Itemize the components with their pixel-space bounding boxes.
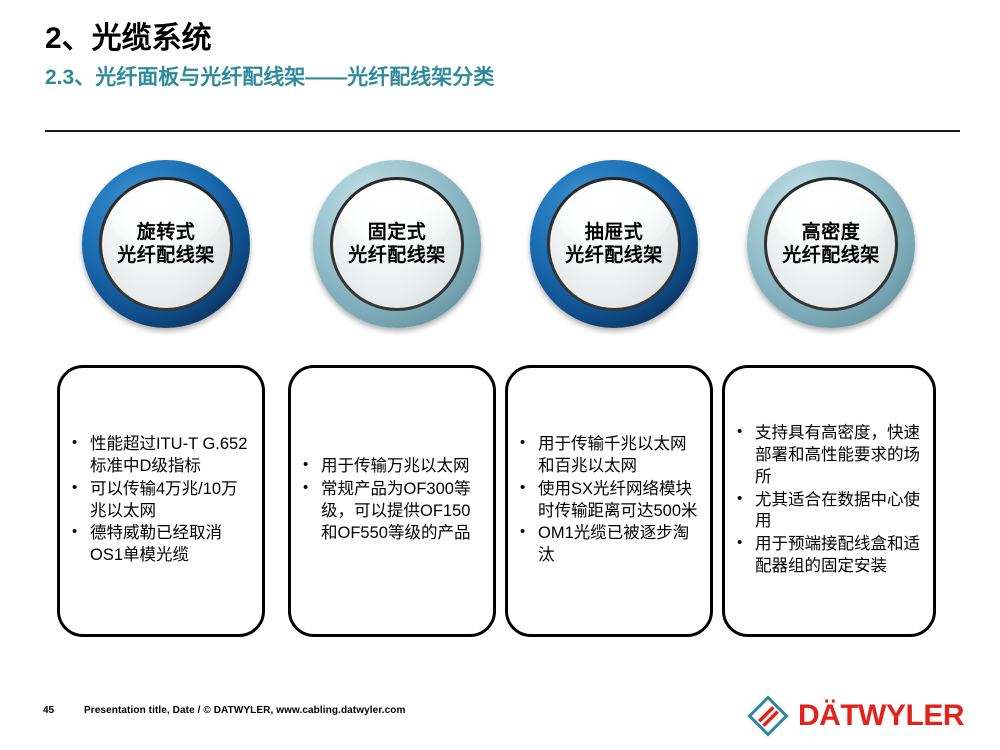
- list-item: 支持具有高密度，快速部署和高性能要求的场所: [735, 423, 925, 488]
- badge-label: 旋转式 光纤配线架: [117, 221, 215, 267]
- list-item: 性能超过ITU-T G.652标准中D级指标: [70, 434, 254, 478]
- badge-label: 高密度 光纤配线架: [782, 221, 880, 267]
- column-2: 固定式 光纤配线架 用于传输万兆以太网 常规产品为OF300等级，可以提供OF1…: [288, 160, 506, 328]
- feature-card-4: 支持具有高密度，快速部署和高性能要求的场所 尤其适合在数据中心使用 用于预端接配…: [722, 365, 936, 637]
- badge-face: 旋转式 光纤配线架: [102, 180, 230, 308]
- list-item: 德特威勒已经取消OS1单模光缆: [70, 523, 254, 567]
- list-item: 可以传输4万兆/10万兆以太网: [70, 479, 254, 523]
- page-subtitle: 2.3、光纤面板与光纤配线架——光纤配线架分类: [45, 65, 960, 90]
- list-item: 使用SX光纤网络模块时传输距离可达500米: [518, 479, 702, 523]
- datwyler-wordmark: DÄTWYLER: [798, 701, 964, 731]
- badge-ring: 旋转式 光纤配线架: [82, 160, 250, 328]
- datwyler-diamond-icon: [746, 694, 790, 738]
- datwyler-logo: DÄTWYLER: [746, 694, 964, 738]
- bullet-list: 性能超过ITU-T G.652标准中D级指标 可以传输4万兆/10万兆以太网 德…: [60, 434, 262, 568]
- badge-inner-ring: 抽屉式 光纤配线架: [547, 177, 681, 311]
- column-4: 高密度 光纤配线架 支持具有高密度，快速部署和高性能要求的场所 尤其适合在数据中…: [722, 160, 940, 328]
- slide-footer: 45 Presentation title, Date / © DATWYLER…: [0, 690, 1000, 750]
- badge-ring: 抽屉式 光纤配线架: [530, 160, 698, 328]
- bullet-list: 用于传输千兆以太网和百兆以太网 使用SX光纤网络模块时传输距离可达500米 OM…: [508, 434, 710, 568]
- badge-face: 高密度 光纤配线架: [767, 180, 895, 308]
- badge-drawer: 抽屉式 光纤配线架: [530, 160, 698, 328]
- header-divider: [45, 130, 960, 132]
- badge-inner-ring: 旋转式 光纤配线架: [99, 177, 233, 311]
- column-1: 旋转式 光纤配线架 性能超过ITU-T G.652标准中D级指标 可以传输4万兆…: [57, 160, 275, 328]
- badge-ring: 高密度 光纤配线架: [747, 160, 915, 328]
- badge-label: 固定式 光纤配线架: [348, 221, 446, 267]
- bullet-list: 用于传输万兆以太网 常规产品为OF300等级，可以提供OF150和OF550等级…: [291, 456, 493, 545]
- list-item: 常规产品为OF300等级，可以提供OF150和OF550等级的产品: [301, 479, 485, 544]
- bullet-list: 支持具有高密度，快速部署和高性能要求的场所 尤其适合在数据中心使用 用于预端接配…: [725, 423, 933, 578]
- list-item: 尤其适合在数据中心使用: [735, 490, 925, 534]
- list-item: OM1光缆已被逐步淘汰: [518, 523, 702, 567]
- page-number: 45: [43, 705, 54, 716]
- slide-header: 2、光缆系统 2.3、光纤面板与光纤配线架——光纤配线架分类: [45, 22, 960, 90]
- feature-card-3: 用于传输千兆以太网和百兆以太网 使用SX光纤网络模块时传输距离可达500米 OM…: [505, 365, 713, 637]
- badge-face: 固定式 光纤配线架: [333, 180, 461, 308]
- feature-card-2: 用于传输万兆以太网 常规产品为OF300等级，可以提供OF150和OF550等级…: [288, 365, 496, 637]
- footer-text: Presentation title, Date / © DATWYLER, w…: [84, 705, 406, 716]
- list-item: 用于传输千兆以太网和百兆以太网: [518, 434, 702, 478]
- badge-fixed: 固定式 光纤配线架: [313, 160, 481, 328]
- list-item: 用于传输万兆以太网: [301, 456, 485, 478]
- feature-card-1: 性能超过ITU-T G.652标准中D级指标 可以传输4万兆/10万兆以太网 德…: [57, 365, 265, 637]
- badge-face: 抽屉式 光纤配线架: [550, 180, 678, 308]
- badge-high-density: 高密度 光纤配线架: [747, 160, 915, 328]
- column-3: 抽屉式 光纤配线架 用于传输千兆以太网和百兆以太网 使用SX光纤网络模块时传输距…: [505, 160, 723, 328]
- badge-label: 抽屉式 光纤配线架: [565, 221, 663, 267]
- badge-rotary: 旋转式 光纤配线架: [82, 160, 250, 328]
- content-columns: 旋转式 光纤配线架 性能超过ITU-T G.652标准中D级指标 可以传输4万兆…: [0, 160, 1000, 660]
- badge-inner-ring: 固定式 光纤配线架: [330, 177, 464, 311]
- page-title: 2、光缆系统: [45, 22, 960, 57]
- badge-inner-ring: 高密度 光纤配线架: [764, 177, 898, 311]
- list-item: 用于预端接配线盒和适配器组的固定安装: [735, 534, 925, 578]
- badge-ring: 固定式 光纤配线架: [313, 160, 481, 328]
